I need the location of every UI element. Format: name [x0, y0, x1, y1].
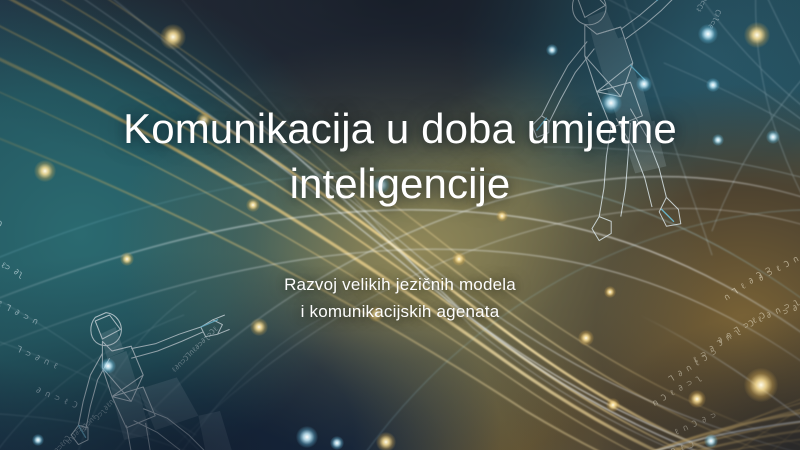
- presentation-slide: ƃʃ∂ℓ ⊃ ʅ∩ ∂⅂ ʃ ∩ƆϞ ⅂ Ɔ ∂ʅ ⊃ℓ∩ ∩ʅ⊃ ∂ ℓƆ ʃ…: [0, 0, 800, 450]
- slide-title: Komunikacija u doba umjetne inteligencij…: [0, 102, 800, 211]
- slide-text: Komunikacija u doba umjetne inteligencij…: [0, 0, 800, 450]
- slide-subtitle: Razvoj velikih jezičnih modela i komunik…: [0, 272, 800, 326]
